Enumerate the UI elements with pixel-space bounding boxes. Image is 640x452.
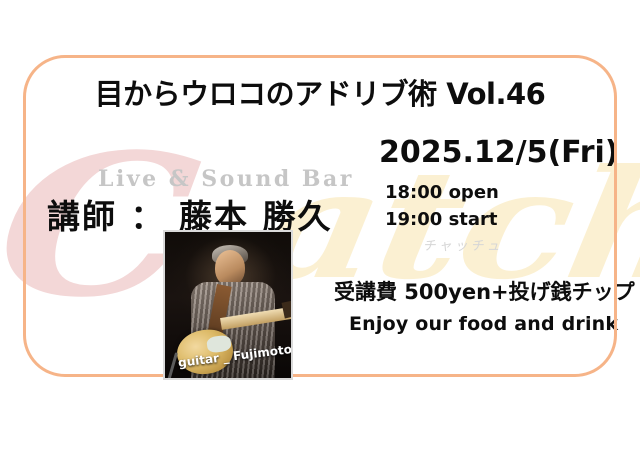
event-date: 2025.12/5(Fri) (379, 135, 619, 170)
photo-guitar-headstock (282, 300, 293, 319)
enjoy-text: Enjoy our food and drink (349, 313, 618, 335)
flyer-content: 目からウロコのアドリブ術 Vol.46 Live & Sound Bar 講師 … (0, 0, 640, 452)
venue-brand-label: Live & Sound Bar (98, 166, 354, 192)
flyer-poster: C atchu チャッチュ 目からウロコのアドリブ術 Vol.46 Live &… (0, 0, 640, 452)
page-title: 目からウロコのアドリブ術 Vol.46 (0, 71, 640, 113)
open-time: 18:00 open (385, 182, 499, 203)
fee-text: 受講費 500yen+投げ銭チップ (334, 276, 635, 306)
start-time: 19:00 start (385, 209, 498, 230)
performer-photo: guitar _ Fujimoto (163, 230, 293, 380)
photo-head (215, 250, 245, 286)
